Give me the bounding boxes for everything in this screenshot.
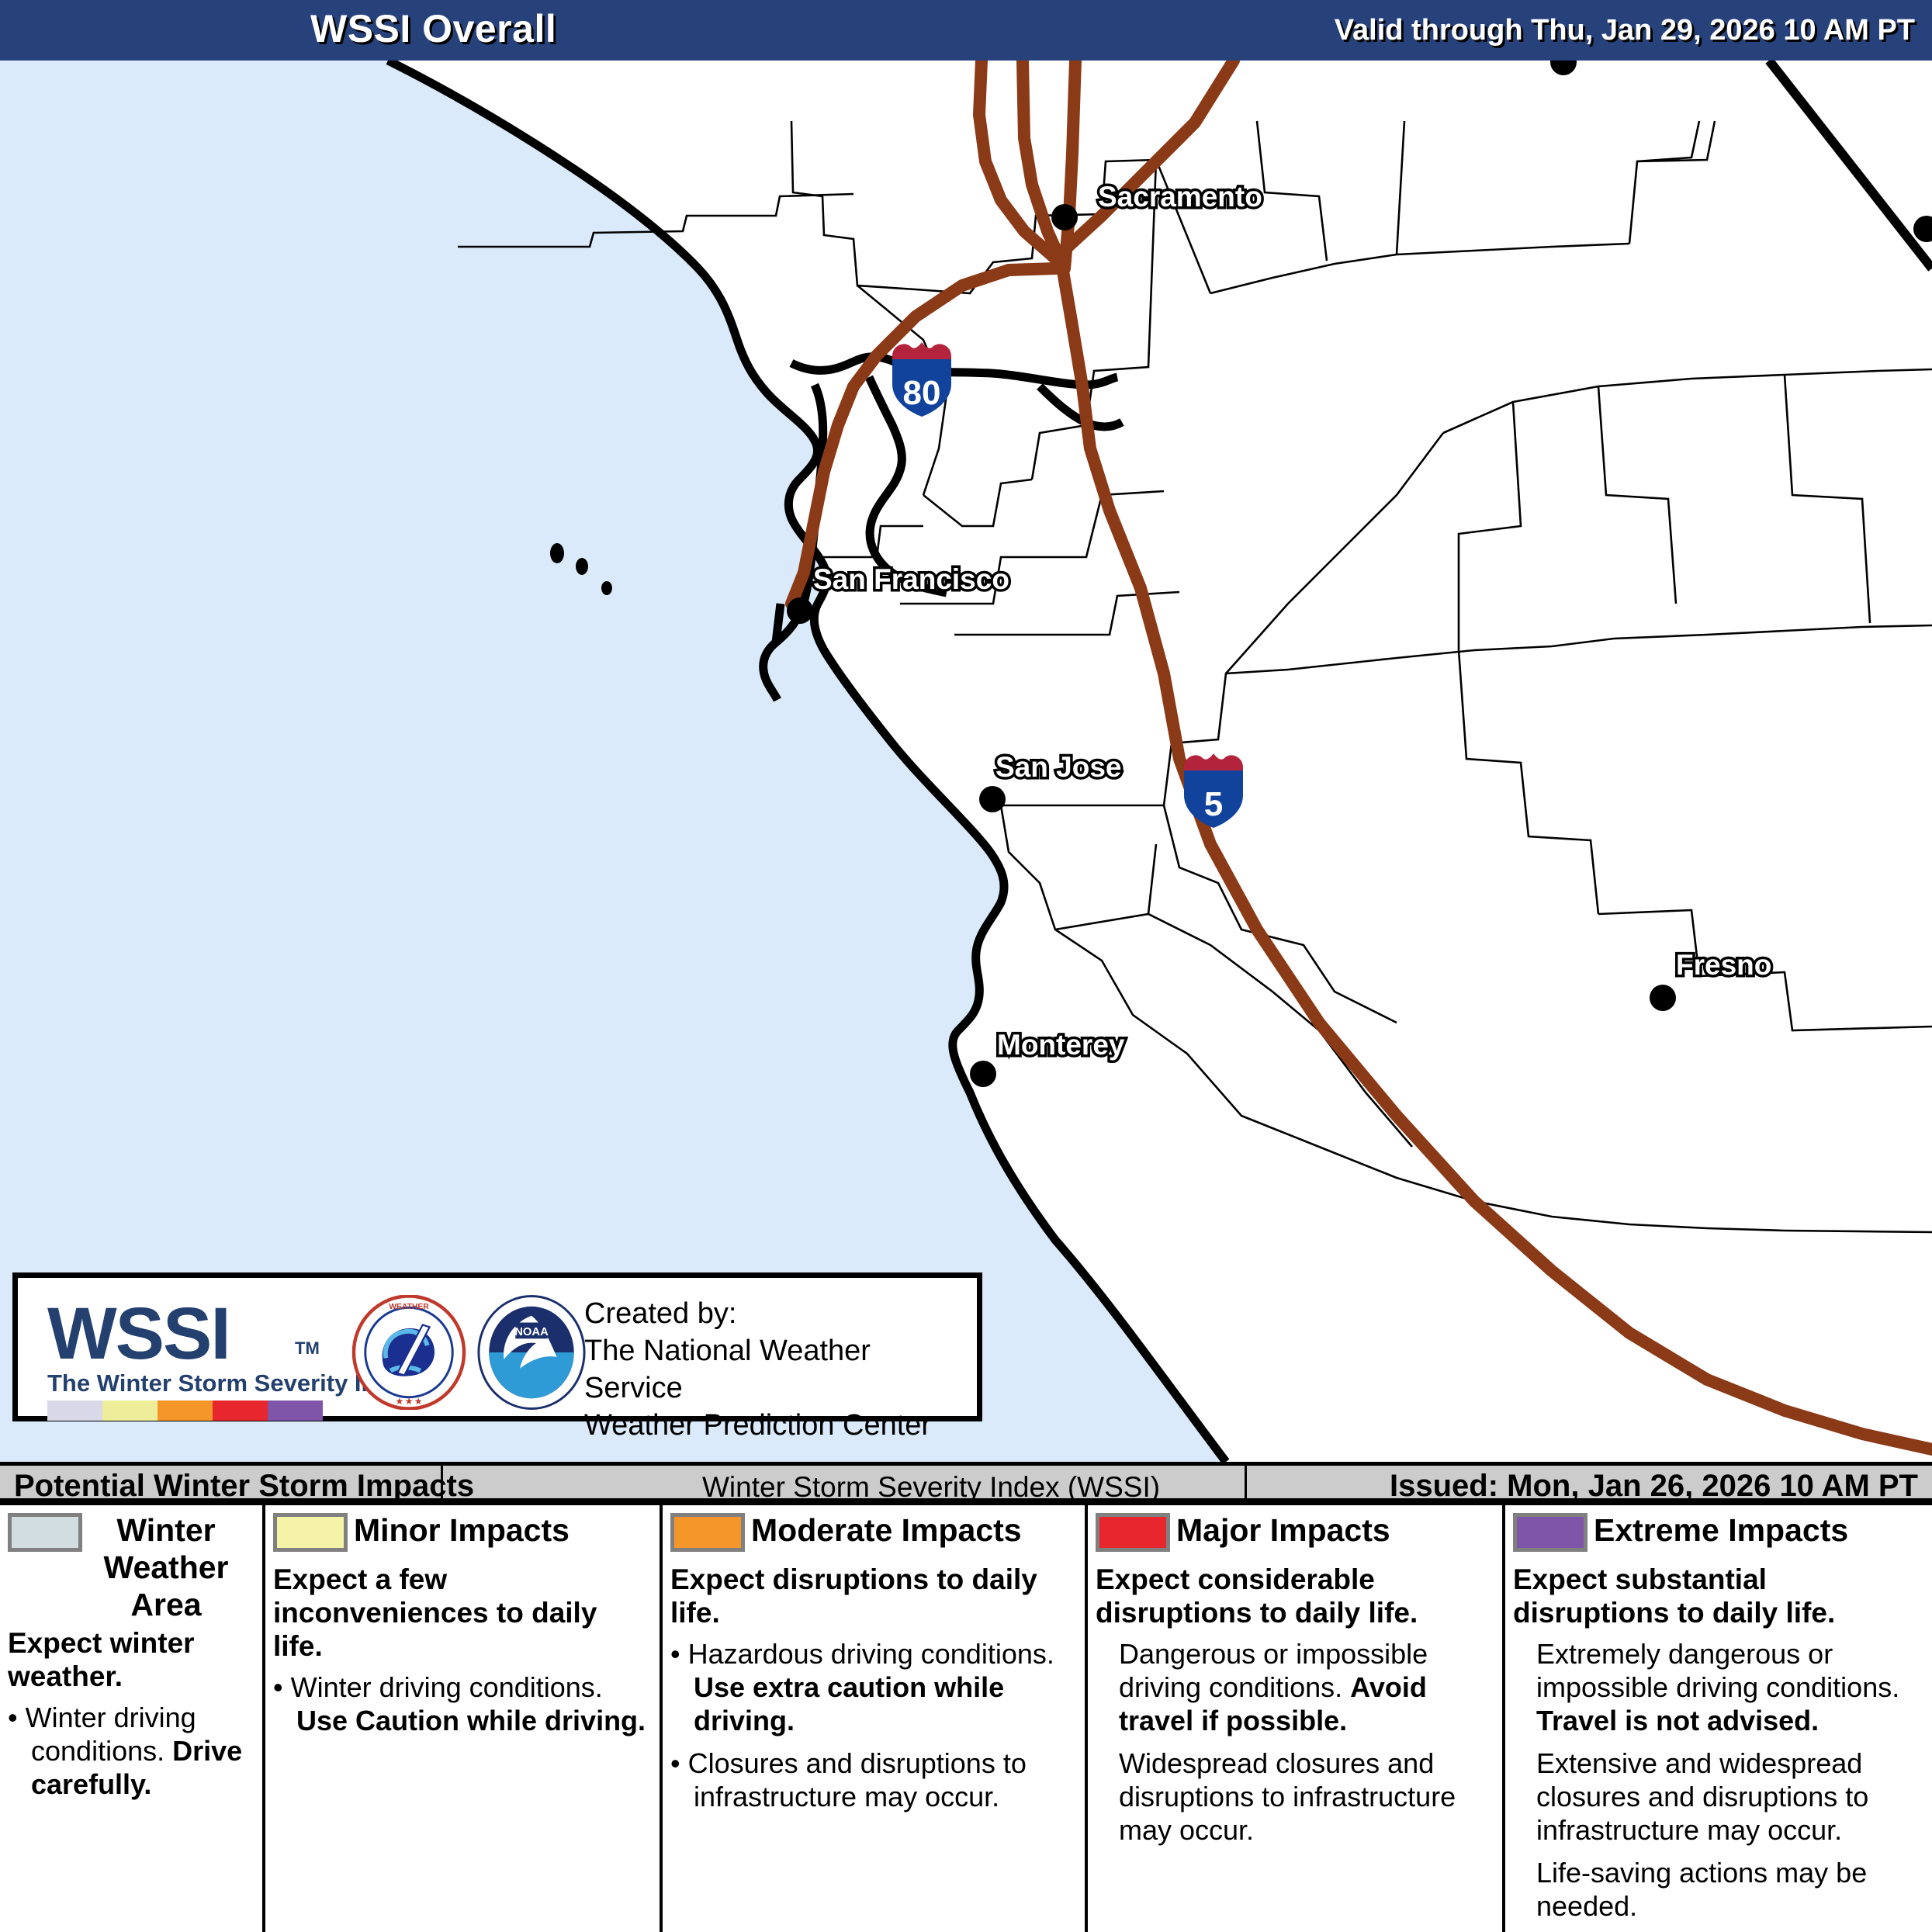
svg-text:5: 5 bbox=[1204, 785, 1223, 823]
legend-header: Winter Weather Area bbox=[8, 1511, 254, 1623]
noaa-seal-icon: NOAA bbox=[474, 1295, 589, 1410]
city-label-fresno: Fresno bbox=[1676, 949, 1771, 982]
created-by-center: Weather Prediction Center bbox=[584, 1407, 977, 1444]
city-label-san-francisco: San Francisco bbox=[813, 563, 1009, 596]
city-dot-monterey bbox=[970, 1061, 996, 1087]
legend-bullet-text: Life-saving actions may be needed. bbox=[1536, 1857, 1867, 1922]
legend-bullet-text: Closures and disruptions to infrastructu… bbox=[688, 1747, 1027, 1813]
legend-bullet-text: Extensive and widespread closures and di… bbox=[1536, 1747, 1868, 1846]
legend-title: Minor Impacts bbox=[354, 1511, 570, 1549]
legend-header: Moderate Impacts bbox=[670, 1511, 1077, 1560]
city-label-san-jose: San Jose bbox=[995, 751, 1121, 784]
legend-swatch-winter-weather-area bbox=[8, 1513, 82, 1552]
legend-column-major-impacts[interactable]: Major Impacts Expect considerable disrup… bbox=[1088, 1505, 1505, 1932]
map-geometry bbox=[0, 61, 1932, 1462]
legend-header: Minor Impacts bbox=[273, 1511, 652, 1560]
svg-text:WEATHER: WEATHER bbox=[389, 1303, 429, 1311]
wssi-color-scale bbox=[47, 1401, 323, 1421]
city-dot-san-jose bbox=[979, 786, 1006, 812]
legend-bullet-text: Winter driving conditions. bbox=[26, 1702, 196, 1767]
legend-bullet-item: Life-saving actions may be needed. bbox=[1513, 1856, 1924, 1923]
created-by-block: Created by: The National Weather Service… bbox=[584, 1295, 977, 1444]
created-by-label: Created by: bbox=[584, 1295, 977, 1332]
legend-bullet-emphasis: Use Caution while driving. bbox=[296, 1705, 646, 1736]
legend-bullet-list: • Winter driving conditions. Drive caref… bbox=[8, 1701, 254, 1801]
legend-bullet-list: Dangerous or impossible driving conditio… bbox=[1096, 1637, 1494, 1847]
svg-text:NOAA: NOAA bbox=[514, 1326, 549, 1338]
legend-column-minor-impacts[interactable]: Minor Impacts Expect a few inconvenience… bbox=[265, 1505, 663, 1932]
land-polygon bbox=[388, 61, 1932, 1462]
nws-seal-icon: WEATHER ★ ★ ★ bbox=[351, 1295, 466, 1410]
impacts-bar-left-title: Potential Winter Storm Impacts bbox=[14, 1469, 474, 1504]
wssi-wordmark: WSSI bbox=[47, 1292, 230, 1376]
legend-bullet-text: Winter driving conditions. bbox=[291, 1671, 603, 1703]
legend-title: Extreme Impacts bbox=[1594, 1511, 1848, 1549]
legend-bullet-text: Extremely dangerous or impossible drivin… bbox=[1536, 1638, 1899, 1703]
legend-bullet-list: Extremely dangerous or impossible drivin… bbox=[1513, 1637, 1924, 1923]
legend-intro: Expect a few inconveniences to daily lif… bbox=[273, 1563, 652, 1663]
legend-bullet-list: • Winter driving conditions. Use Caution… bbox=[273, 1671, 652, 1737]
legend-title: Winter Weather Area bbox=[88, 1511, 244, 1623]
page-title: WSSI Overall bbox=[310, 6, 556, 51]
legend-title: Major Impacts bbox=[1176, 1511, 1390, 1549]
legend-intro: Expect disruptions to daily life. bbox=[670, 1563, 1077, 1629]
legend-bullet-item: • Winter driving conditions. Use Caution… bbox=[273, 1671, 652, 1737]
map-canvas[interactable]: Sacramento San Francisco San Jose Fresno… bbox=[0, 61, 1932, 1462]
legend-column-moderate-impacts[interactable]: Moderate Impacts Expect disruptions to d… bbox=[663, 1505, 1088, 1932]
city-label-monterey: Monterey bbox=[997, 1029, 1124, 1061]
impacts-bar-subtitle: Winter Storm Severity Index (WSSI) bbox=[702, 1471, 1160, 1504]
legend-bullet-item: Widespread closures and disruptions to i… bbox=[1096, 1747, 1494, 1847]
legend-intro: Expect winter weather. bbox=[8, 1626, 254, 1693]
interstate-shield-80: 80 bbox=[886, 336, 957, 420]
legend-bullet-text: Widespread closures and disruptions to i… bbox=[1119, 1747, 1456, 1846]
legend-bullet-emphasis: Use extra caution while driving. bbox=[694, 1671, 1004, 1736]
legend-swatch-moderate-impacts bbox=[670, 1513, 745, 1552]
legend-intro: Expect substantial disruptions to daily … bbox=[1513, 1563, 1924, 1629]
legend-bullet-emphasis: Travel is not advised. bbox=[1536, 1705, 1819, 1736]
impacts-title-bar: Potential Winter Storm Impacts Winter St… bbox=[0, 1462, 1932, 1502]
legend-swatch-major-impacts bbox=[1096, 1513, 1170, 1552]
legend-header: Major Impacts bbox=[1096, 1511, 1494, 1560]
legend-intro: Expect considerable disruptions to daily… bbox=[1096, 1563, 1494, 1629]
header-bar: WSSI Overall Valid through Thu, Jan 29, … bbox=[0, 0, 1932, 61]
wssi-map-page: WSSI Overall Valid through Thu, Jan 29, … bbox=[0, 0, 1932, 1932]
offshore-islands bbox=[550, 543, 612, 595]
city-dot-sacramento bbox=[1051, 204, 1078, 230]
legend-bullet-item: Extremely dangerous or impossible drivin… bbox=[1513, 1637, 1924, 1737]
legend-bullet-item: • Winter driving conditions. Drive caref… bbox=[8, 1701, 254, 1801]
legend-column-winter-weather-area[interactable]: Winter Weather Area Expect winter weathe… bbox=[0, 1505, 265, 1932]
wssi-trademark-icon: TM bbox=[295, 1338, 320, 1359]
legend-bullet-item: Extensive and widespread closures and di… bbox=[1513, 1747, 1924, 1847]
issued-timestamp: Issued: Mon, Jan 26, 2026 10 AM PT bbox=[1390, 1469, 1918, 1504]
svg-text:★ ★ ★: ★ ★ ★ bbox=[396, 1398, 422, 1407]
svg-text:80: 80 bbox=[903, 374, 941, 412]
legend-bullet-item: • Hazardous driving conditions. Use extr… bbox=[670, 1637, 1077, 1737]
legend-bullet-text: Hazardous driving conditions. bbox=[688, 1638, 1054, 1670]
legend-swatch-minor-impacts bbox=[273, 1513, 348, 1552]
legend-bullet-item: Dangerous or impossible driving conditio… bbox=[1096, 1637, 1494, 1737]
city-dot-fresno bbox=[1650, 985, 1676, 1011]
legend-column-extreme-impacts[interactable]: Extreme Impacts Expect substantial disru… bbox=[1505, 1505, 1932, 1932]
interstate-shield-5: 5 bbox=[1178, 747, 1249, 831]
legend-bullet-item: • Closures and disruptions to infrastruc… bbox=[670, 1747, 1077, 1813]
legend-title: Moderate Impacts bbox=[751, 1511, 1022, 1549]
city-label-sacramento: Sacramento bbox=[1098, 181, 1262, 213]
legend-swatch-extreme-impacts bbox=[1513, 1513, 1587, 1552]
wssi-logo-box: WSSI TM The Winter Storm Severity Index … bbox=[12, 1272, 982, 1421]
valid-through-text: Valid through Thu, Jan 29, 2026 10 AM PT bbox=[1335, 14, 1915, 47]
legend-header: Extreme Impacts bbox=[1513, 1511, 1924, 1560]
city-dot-san-francisco bbox=[787, 597, 813, 624]
legend-bullet-list: • Hazardous driving conditions. Use extr… bbox=[670, 1637, 1077, 1813]
impacts-legend: Winter Weather Area Expect winter weathe… bbox=[0, 1502, 1932, 1932]
created-by-agency: The National Weather Service bbox=[584, 1332, 977, 1407]
